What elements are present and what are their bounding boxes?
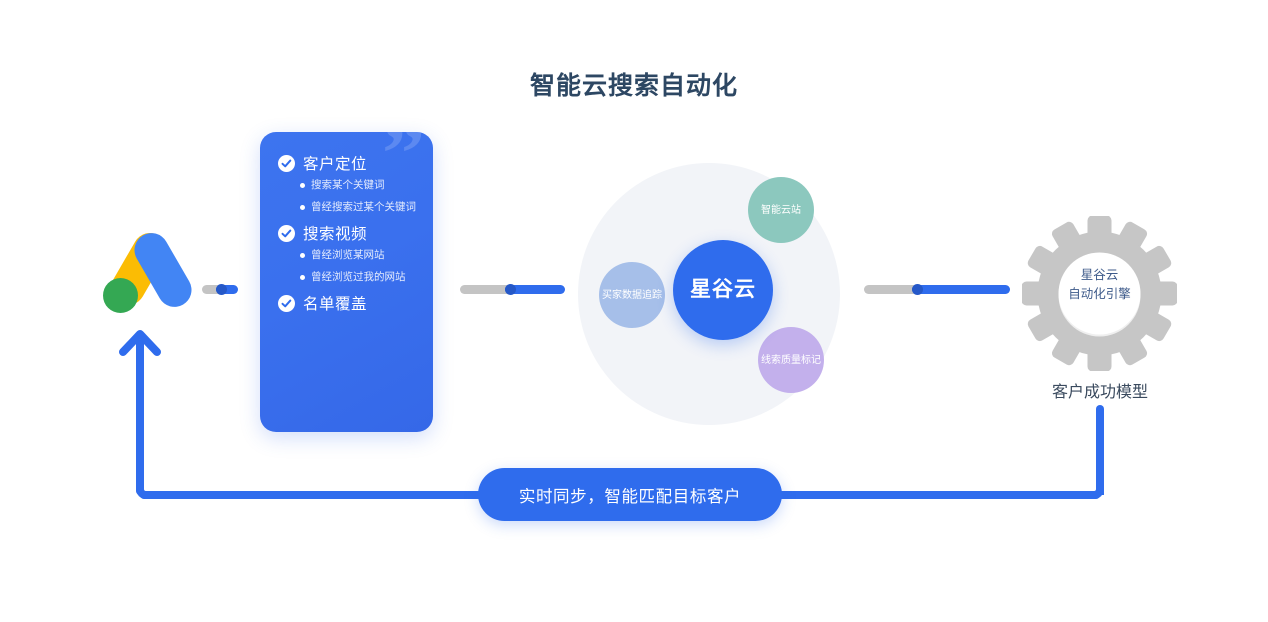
cluster-bubble-main: 星谷云: [673, 240, 773, 340]
check-circle-icon: [278, 295, 295, 312]
check-circle-icon: [278, 155, 295, 172]
cluster-bubble-smart-cloud-site: 智能云站: [748, 177, 814, 243]
gear-inner-line-1: 星谷云: [1022, 266, 1177, 285]
audience-targeting-card: ” 客户定位 搜索某个关键词 曾经搜索过某个关键词: [260, 132, 433, 432]
check-circle-icon: [278, 225, 295, 242]
connector-1-knob: [216, 284, 227, 295]
card-group-header: 搜索视频: [278, 222, 419, 244]
gear-inner-line-2: 自动化引擎: [1022, 285, 1177, 304]
connector-2: [460, 285, 565, 294]
card-group-0-list: 搜索某个关键词 曾经搜索过某个关键词: [300, 178, 419, 215]
diagram-canvas: 智能云搜索自动化 ” 客户定位 搜索某个关键词 曾经搜索过某个关键词: [0, 0, 1268, 622]
connector-3: [864, 285, 1010, 294]
engine-caption: 客户成功模型: [1000, 378, 1200, 402]
loop-arrow-up-icon: [119, 328, 161, 358]
card-group-header: 客户定位: [278, 152, 419, 174]
card-group-title: 名单覆盖: [303, 292, 367, 314]
page-title: 智能云搜索自动化: [0, 66, 1268, 102]
card-group-header: 名单覆盖: [278, 292, 419, 314]
connector-2-knob: [505, 284, 516, 295]
connector-1: [202, 285, 238, 294]
cluster-bubble-lead-quality-tagging: 线索质量标记: [758, 327, 824, 393]
card-group-title: 客户定位: [303, 152, 367, 174]
google-ads-green-circle: [103, 278, 138, 313]
card-group-1-list: 曾经浏览某网站 曾经浏览过我的网站: [300, 248, 419, 285]
card-group-title: 搜索视频: [303, 222, 367, 244]
cluster-bubble-buyer-data-tracking: 买家数据追踪: [599, 262, 665, 328]
connector-3-gray-segment: [864, 285, 919, 294]
list-item: 曾经搜索过某个关键词: [300, 200, 416, 215]
feedback-pill-label: 实时同步，智能匹配目标客户: [478, 468, 782, 521]
list-item: 曾经浏览某网站: [300, 248, 416, 263]
connector-3-blue-segment: [912, 285, 1010, 294]
google-ads-logo-icon: [98, 228, 194, 314]
gear-inner-label: 星谷云 自动化引擎: [1022, 266, 1177, 304]
connector-3-knob: [912, 284, 923, 295]
loop-line-left-vertical: [136, 340, 144, 495]
list-item: 曾经浏览过我的网站: [300, 270, 416, 285]
list-item: 搜索某个关键词: [300, 178, 416, 193]
